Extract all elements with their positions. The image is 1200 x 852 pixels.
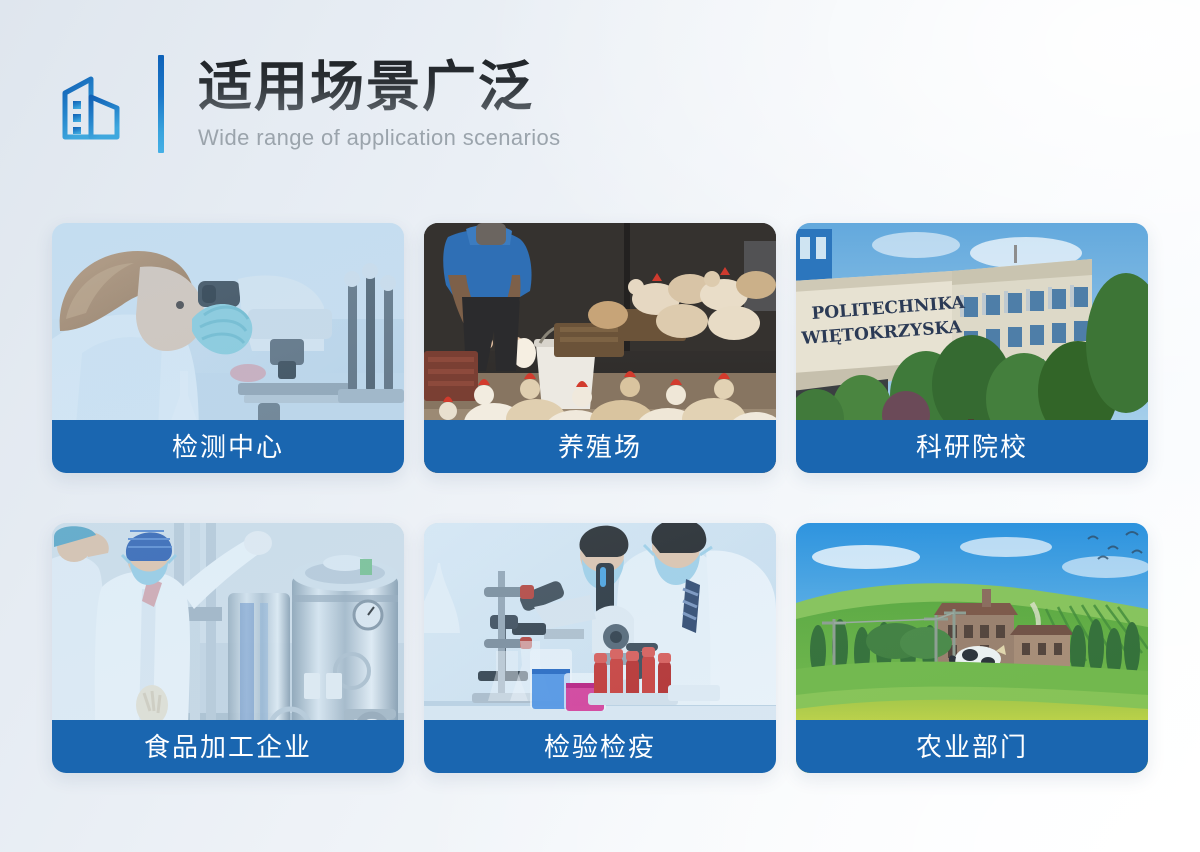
card-label-bar: 检验检疫 — [424, 720, 776, 773]
card-label-bar: 农业部门 — [796, 720, 1148, 773]
page-title: 适用场景广泛 — [198, 57, 561, 115]
scenario-card[interactable]: 检验检疫 — [424, 523, 776, 773]
card-label-text: 检验检疫 — [544, 734, 656, 760]
application-scenarios-page: 适用场景广泛 Wide range of application scenari… — [0, 0, 1200, 852]
scenario-card[interactable]: 检测中心 — [52, 223, 404, 473]
scenario-card-grid: 检测中心 — [52, 223, 1148, 773]
header-titles: 适用场景广泛 Wide range of application scenari… — [198, 57, 561, 151]
card-label-text: 养殖场 — [558, 434, 642, 460]
card-label-bar: 养殖场 — [424, 420, 776, 473]
building-icon — [60, 67, 126, 141]
card-label-text: 检测中心 — [172, 434, 284, 460]
card-label-bar: 科研院校 — [796, 420, 1148, 473]
card-label-text: 食品加工企业 — [144, 734, 312, 760]
scenario-card[interactable]: POLITECHNIKA WIĘTOKRZYSKA syer.com — [796, 223, 1148, 473]
card-label-text: 农业部门 — [916, 734, 1028, 760]
card-label-bar: 检测中心 — [52, 420, 404, 473]
header-divider — [158, 55, 164, 153]
card-label-text: 科研院校 — [916, 434, 1028, 460]
page-header: 适用场景广泛 Wide range of application scenari… — [60, 55, 561, 153]
scenario-card[interactable]: 食品加工企业 — [52, 523, 404, 773]
page-subtitle: Wide range of application scenarios — [198, 125, 561, 151]
scenario-card[interactable]: 农业部门 — [796, 523, 1148, 773]
card-label-bar: 食品加工企业 — [52, 720, 404, 773]
scenario-card[interactable]: 养殖场 — [424, 223, 776, 473]
